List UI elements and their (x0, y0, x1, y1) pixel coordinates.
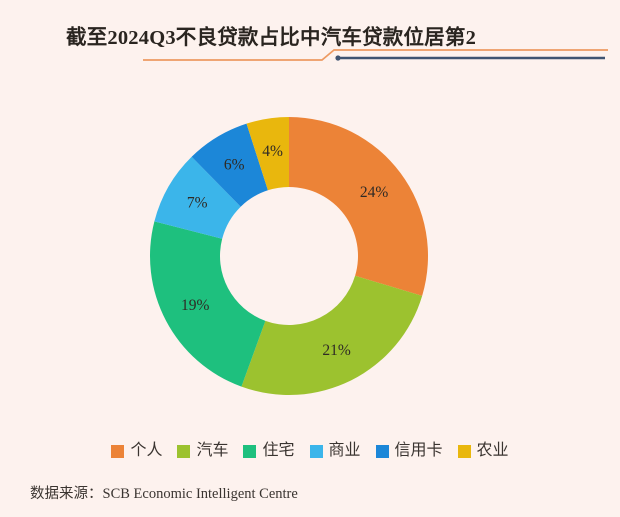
donut-chart: 24%21%19%7%6%4% (0, 80, 620, 435)
legend-label-住宅: 住宅 (262, 443, 294, 459)
legend-item-商业[interactable]: 商业 (310, 443, 361, 459)
legend-swatch-icon-农业 (458, 445, 471, 458)
donut-slice-个人[interactable] (289, 117, 428, 296)
title-block: 截至2024Q3不良贷款占比中汽车贷款位居第2 (0, 0, 620, 80)
divider-dot-icon (335, 55, 340, 60)
source-note: 数据来源：SCB Economic Intelligent Centre (30, 482, 298, 503)
legend-item-汽车[interactable]: 汽车 (177, 443, 228, 459)
legend-label-农业: 农业 (477, 443, 509, 459)
legend-swatch-icon-汽车 (177, 445, 190, 458)
legend-swatch-icon-住宅 (243, 445, 256, 458)
donut-chart-svg: 24%21%19%7%6%4% (0, 80, 620, 435)
legend-label-汽车: 汽车 (196, 443, 228, 459)
legend-swatch-icon-商业 (310, 445, 323, 458)
title-divider (0, 44, 620, 72)
donut-slice-label-信用卡: 6% (224, 157, 245, 174)
donut-slice-label-个人: 24% (360, 184, 389, 201)
legend-item-住宅[interactable]: 住宅 (243, 443, 294, 459)
legend-swatch-icon-信用卡 (376, 445, 389, 458)
legend-item-个人[interactable]: 个人 (111, 443, 162, 459)
chart-legend: 个人汽车住宅商业信用卡农业 (0, 436, 620, 466)
donut-slice-group (150, 117, 428, 395)
donut-slice-汽车[interactable] (241, 276, 422, 395)
donut-slice-label-住宅: 19% (181, 297, 210, 314)
legend-label-信用卡: 信用卡 (395, 443, 443, 459)
legend-item-信用卡[interactable]: 信用卡 (376, 443, 443, 459)
donut-slice-label-商业: 7% (187, 195, 208, 212)
legend-label-商业: 商业 (329, 443, 361, 459)
donut-slice-label-汽车: 21% (322, 342, 351, 359)
legend-swatch-icon-个人 (111, 445, 124, 458)
legend-item-农业[interactable]: 农业 (458, 443, 509, 459)
donut-slice-label-农业: 4% (262, 143, 283, 160)
legend-label-个人: 个人 (130, 443, 162, 459)
